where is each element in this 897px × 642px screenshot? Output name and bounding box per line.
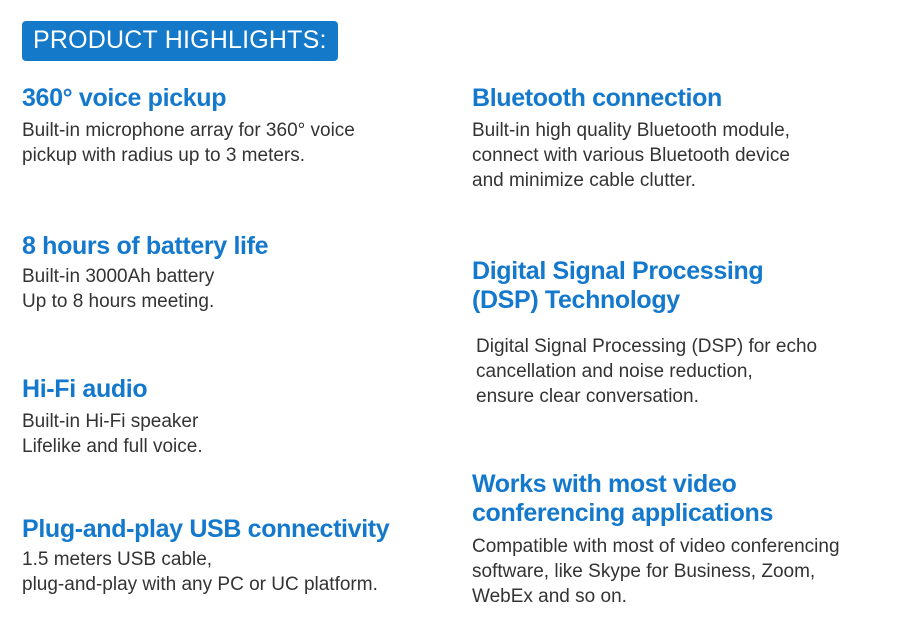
- product-highlights-badge-container: PRODUCT HIGHLIGHTS:: [22, 21, 338, 61]
- feature-hifi-audio: Hi-Fi audio Built-in Hi-Fi speaker Lifel…: [22, 375, 203, 459]
- feature-360-voice-pickup: 360° voice pickup Built-in microphone ar…: [22, 84, 355, 168]
- feature-heading: Plug-and-play USB connectivity: [22, 515, 389, 544]
- product-highlights-badge: PRODUCT HIGHLIGHTS:: [22, 21, 338, 61]
- feature-heading: 8 hours of battery life: [22, 232, 268, 261]
- feature-bluetooth-connection: Bluetooth connection Built-in high quali…: [472, 84, 790, 193]
- feature-heading: Works with most video conferencing appli…: [472, 470, 840, 529]
- feature-heading: Digital Signal Processing (DSP) Technolo…: [472, 257, 817, 316]
- feature-usb-connectivity: Plug-and-play USB connectivity 1.5 meter…: [22, 515, 389, 597]
- feature-heading: 360° voice pickup: [22, 84, 355, 113]
- feature-battery-life: 8 hours of battery life Built-in 3000Ah …: [22, 232, 268, 314]
- feature-description: Built-in microphone array for 360° voice…: [22, 118, 355, 168]
- feature-description: Built-in 3000Ah battery Up to 8 hours me…: [22, 264, 268, 314]
- feature-description: Compatible with most of video conferenci…: [472, 534, 840, 609]
- feature-heading: Bluetooth connection: [472, 84, 790, 113]
- feature-description: 1.5 meters USB cable, plug-and-play with…: [22, 547, 389, 597]
- feature-video-conferencing-compatibility: Works with most video conferencing appli…: [472, 470, 840, 609]
- feature-heading: Hi-Fi audio: [22, 375, 203, 404]
- feature-description: Built-in Hi-Fi speaker Lifelike and full…: [22, 409, 203, 459]
- product-highlights-page: PRODUCT HIGHLIGHTS: 360° voice pickup Bu…: [0, 0, 897, 642]
- feature-description: Built-in high quality Bluetooth module, …: [472, 118, 790, 193]
- feature-dsp-technology: Digital Signal Processing (DSP) Technolo…: [472, 257, 817, 409]
- feature-description: Digital Signal Processing (DSP) for echo…: [472, 334, 817, 409]
